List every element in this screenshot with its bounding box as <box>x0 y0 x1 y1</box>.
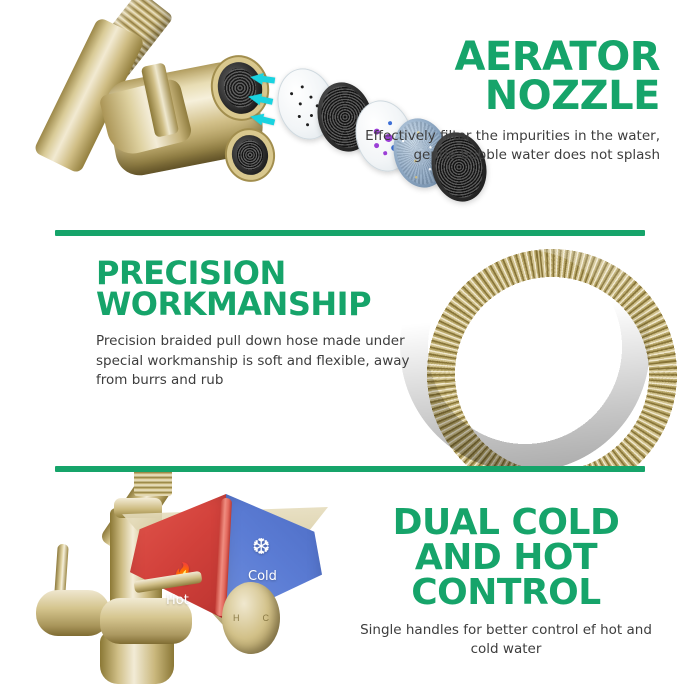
faucet-illustration: 🔥 ❆ Hot Cold H C <box>0 472 380 700</box>
faucet-side-handle <box>36 590 110 636</box>
faucet-thread-connector <box>134 472 172 496</box>
workmanship-headline: PRECISION WORKMANSHIP <box>96 258 426 320</box>
dual-control-text-block: DUAL COLD AND HOT CONTROL Single handles… <box>356 506 656 660</box>
aerator-body-text: Effectively filter the impurities in the… <box>330 127 660 166</box>
workmanship-body-text: Precision braided pull down hose made un… <box>96 332 426 391</box>
flow-arrow-icon <box>247 91 262 105</box>
workmanship-headline-line2: WORKMANSHIP <box>96 285 371 323</box>
aerator-text-block: AERATOR NOZZLE Effectively filter the im… <box>330 38 660 166</box>
dual-control-body-text: Single handles for better control ef hot… <box>356 621 656 660</box>
section-aerator-nozzle: AERATOR NOZZLE Effectively filter the im… <box>0 0 700 232</box>
dual-control-headline: DUAL COLD AND HOT CONTROL <box>356 506 656 611</box>
infographic-page: AERATOR NOZZLE Effectively filter the im… <box>0 0 700 700</box>
handle-marker-cold: C <box>263 613 270 623</box>
section-dual-cold-and-hot-control: 🔥 ❆ Hot Cold H C DUAL COLD AND HOT CONTR… <box>0 472 700 700</box>
faucet-handle-disc: H C <box>222 582 280 654</box>
handle-marker-hot: H <box>233 613 240 623</box>
snowflake-icon: ❆ <box>252 536 270 558</box>
dual-control-headline-line3: CONTROL <box>411 572 600 613</box>
aerator-headline: AERATOR NOZZLE <box>330 38 660 116</box>
workmanship-text-block: PRECISION WORKMANSHIP Precision braided … <box>96 258 426 391</box>
aerator-headline-line2: NOZZLE <box>485 73 660 119</box>
faucet-side-stem <box>54 544 69 597</box>
fan-label-hot: Hot <box>166 593 189 608</box>
section-precision-workmanship: PRECISION WORKMANSHIP Precision braided … <box>0 236 700 468</box>
flow-arrow-icon <box>249 71 264 85</box>
